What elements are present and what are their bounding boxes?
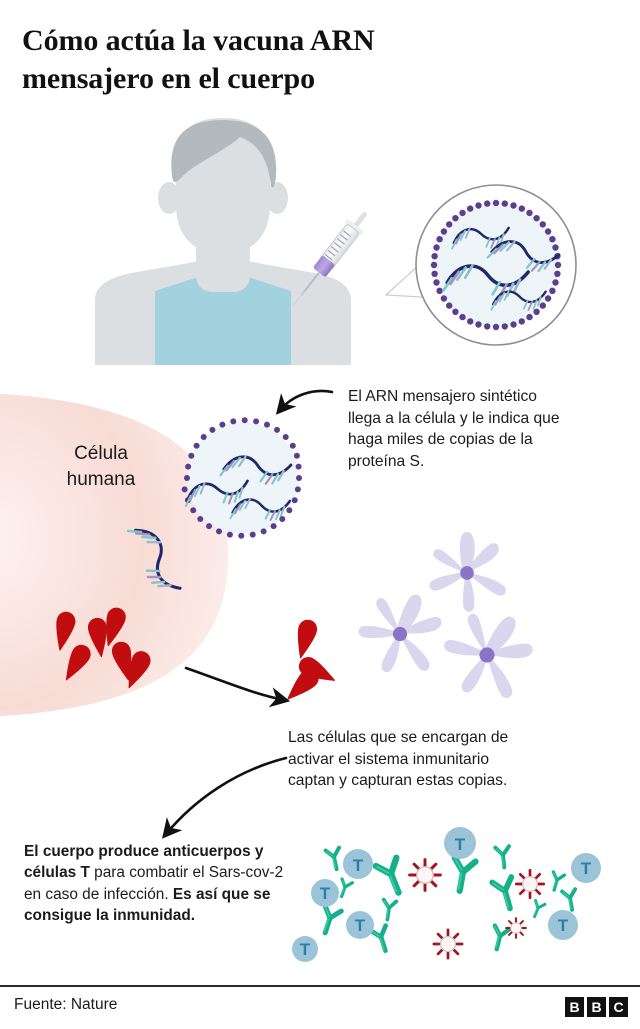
bbc-logo-letter-2: B xyxy=(587,997,606,1017)
dendritic-cell-group xyxy=(350,527,542,711)
t-cell-letter: T xyxy=(355,916,366,935)
t-cell-letter: T xyxy=(300,940,311,959)
immunity-cluster: T T T T T T T xyxy=(292,827,601,962)
infographic-root: Cómo actúa la vacuna ARN mensajero en el… xyxy=(0,0,640,1029)
callout-step-3: El cuerpo produce anticuerpos y células … xyxy=(24,841,292,926)
t-cell-letter: T xyxy=(581,859,592,878)
person-silhouette-icon xyxy=(95,118,351,365)
spike-protein-group xyxy=(281,618,339,707)
callout-step-2: Las células que se encargan de activar e… xyxy=(288,727,578,792)
mrna-capsule-icon xyxy=(182,417,302,538)
curved-arrow-icon xyxy=(166,758,286,834)
bbc-logo-letter-3: C xyxy=(609,997,628,1017)
curved-arrow-icon xyxy=(280,391,332,410)
virus-group xyxy=(410,860,544,958)
curved-arrow-icon xyxy=(186,668,284,700)
magnified-circle-icon xyxy=(416,185,576,345)
source-credit: Fuente: Nature xyxy=(14,996,117,1014)
cell-label: Célula humana xyxy=(26,441,176,492)
t-cell-letter: T xyxy=(320,884,331,903)
t-cell-letter: T xyxy=(353,856,364,875)
t-cell-letter: T xyxy=(455,835,466,854)
bbc-logo: B B C xyxy=(565,997,628,1017)
t-cell-letter: T xyxy=(558,916,569,935)
footer-divider xyxy=(0,985,640,987)
callout-step-1: El ARN mensajero sintético llega a la cé… xyxy=(348,386,618,472)
bbc-logo-letter-1: B xyxy=(565,997,584,1017)
